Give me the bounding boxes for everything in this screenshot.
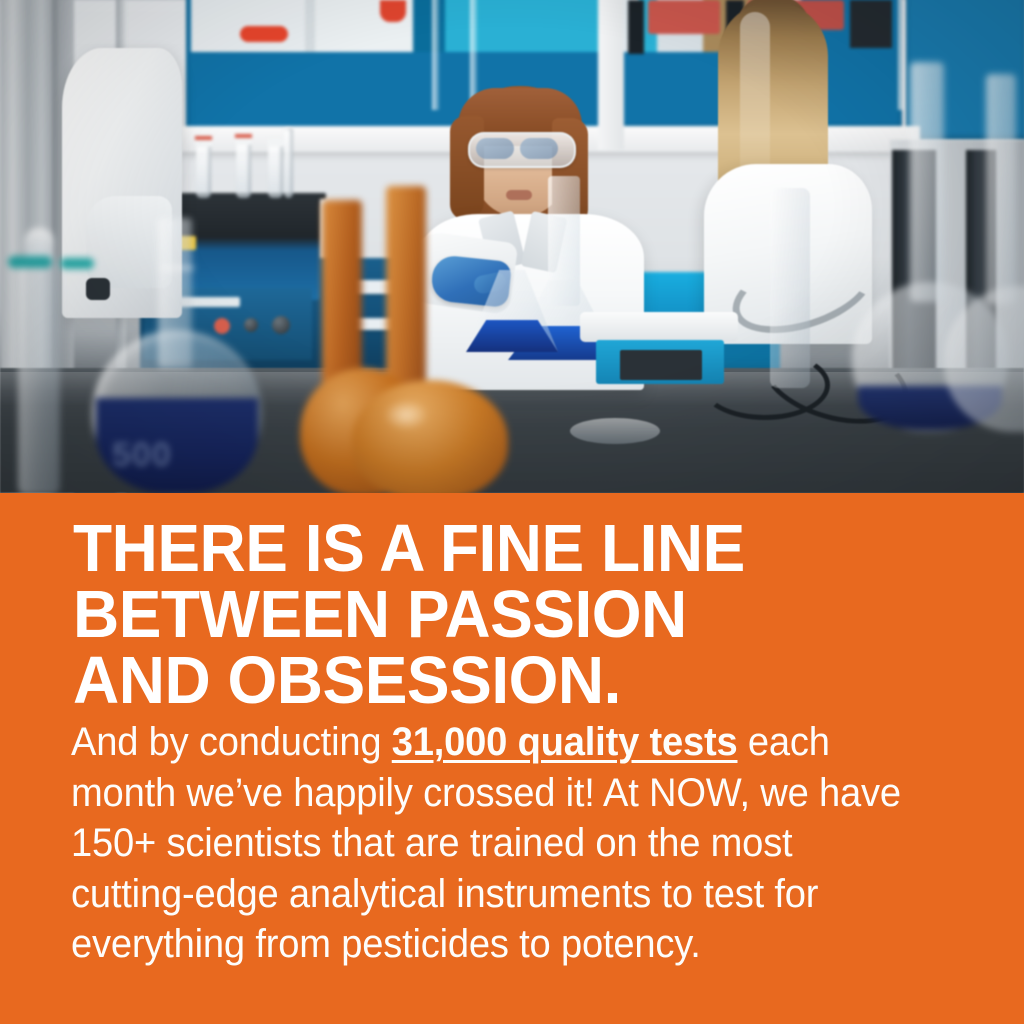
amber-flask-2-body <box>352 380 508 493</box>
amber-flask-highlight <box>384 400 428 430</box>
body-paragraph: And by conducting 31,000 quality tests e… <box>71 717 916 970</box>
lab-photograph: 500 <box>0 0 1024 493</box>
foreground-glassware: 500 <box>0 0 1024 493</box>
flask-500-label: 500 <box>112 436 198 476</box>
social-poster: 500 THERE IS A FINE LINE BETWEEN PASSION… <box>0 0 1024 1024</box>
flask-500-graduation <box>160 266 194 270</box>
teal-marker-1 <box>8 256 52 268</box>
graduated-cylinder-left <box>18 250 60 493</box>
right-flask-1-neck <box>910 62 944 302</box>
right-flask-2-neck <box>986 74 1016 304</box>
body-text-before: And by conducting <box>71 720 392 764</box>
page-title: THERE IS A FINE LINE BETWEEN PASSION AND… <box>73 516 933 714</box>
teal-marker-2 <box>60 258 94 269</box>
orange-text-panel: THERE IS A FINE LINE BETWEEN PASSION AND… <box>0 493 1024 1024</box>
amber-flask-2-neck <box>386 186 426 396</box>
quality-tests-highlight: 31,000 quality tests <box>392 720 738 764</box>
